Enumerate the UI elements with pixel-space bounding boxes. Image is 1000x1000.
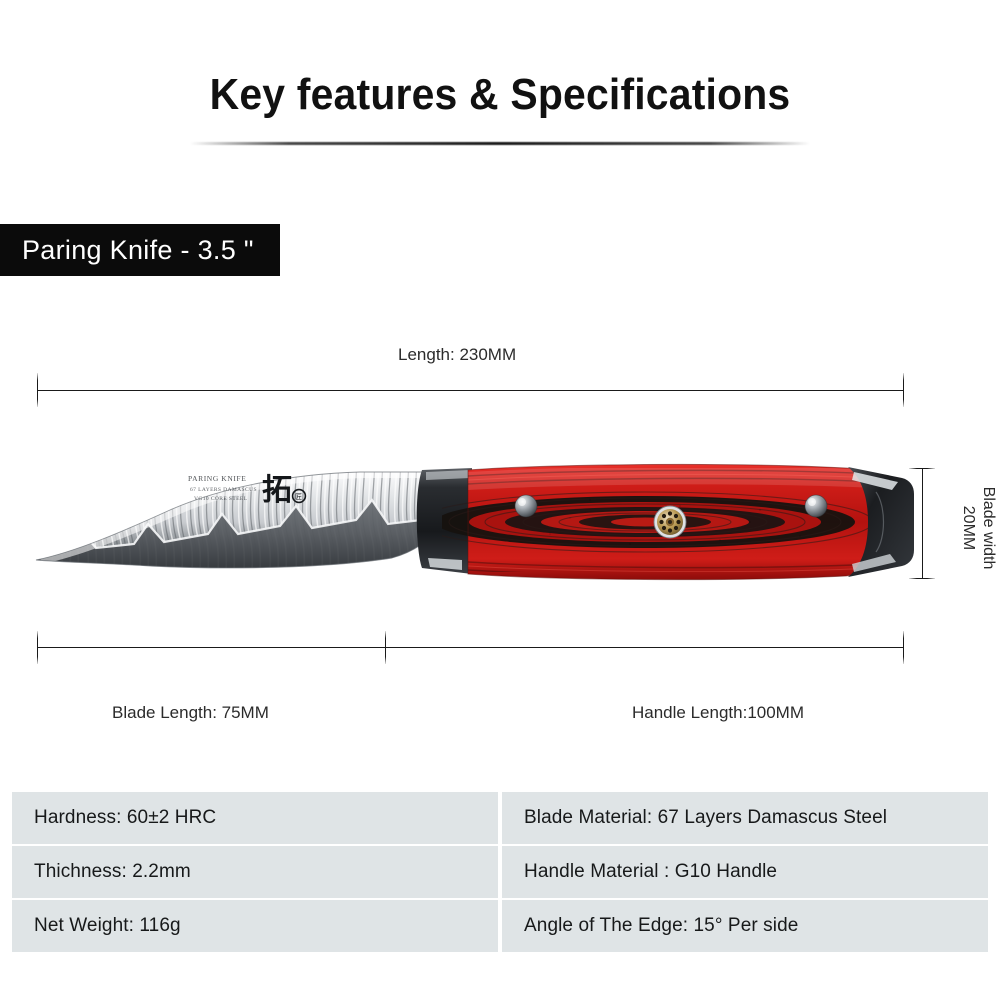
spec-cell-thickness: Thichness: 2.2mm [12, 846, 498, 898]
blade-width-dimension-line [922, 468, 923, 579]
product-name-badge: Paring Knife - 3.5 " [0, 224, 280, 276]
blade-width-cap-top [909, 468, 935, 469]
title-underline-rule [190, 142, 810, 145]
svg-text:匠: 匠 [295, 493, 302, 501]
overall-length-cap-left [37, 373, 38, 407]
svg-text:拓: 拓 [262, 473, 292, 508]
blade-width-label-wrap: Blade width 20MM [947, 460, 1000, 590]
blade-length-label: Blade Length: 75MM [112, 703, 269, 723]
blade-etching: PARING KNIFE 67 LAYERS DAMASCUS VG10 COR… [188, 474, 257, 502]
blade-length-cap-left [37, 631, 38, 664]
spec-cell-hardness: Hardness: 60±2 HRC [12, 792, 498, 844]
knife-illustration: . PARING KNIFE 67 LAYERS DAMASCUS VG10 C… [30, 448, 920, 598]
handle-length-cap-right [903, 631, 904, 664]
spec-cell-handle-material: Handle Material : G10 Handle [502, 846, 988, 898]
blade-width-cap-bottom [909, 578, 935, 579]
blade-width-label: Blade width 20MM [958, 463, 998, 593]
handle-rivet-front [515, 495, 537, 517]
svg-text:67 LAYERS DAMASCUS: 67 LAYERS DAMASCUS [190, 487, 257, 493]
blade-handle-dimension-line [37, 647, 904, 648]
blade-width-label-line2: 20MM [958, 463, 978, 593]
svg-text:PARING KNIFE: PARING KNIFE [188, 474, 246, 483]
spec-cell-blade-material: Blade Material: 67 Layers Damascus Steel [502, 792, 988, 844]
handle-mosaic-pin [654, 506, 686, 538]
blade-width-label-line1: Blade width [980, 487, 997, 570]
handle-rivet-rear [805, 495, 827, 517]
knife-blade: . PARING KNIFE 67 LAYERS DAMASCUS VG10 C… [30, 448, 442, 598]
specifications-table: Hardness: 60±2 HRC Blade Material: 67 La… [12, 792, 988, 952]
spec-cell-edge-angle: Angle of The Edge: 15° Per side [502, 900, 988, 952]
svg-text:VG10 CORE STEEL: VG10 CORE STEEL [194, 496, 248, 502]
page-title: Key features & Specifications [35, 72, 965, 118]
infographic-page: Key features & Specifications Paring Kni… [0, 0, 1000, 1000]
spec-cell-net-weight: Net Weight: 116g [12, 900, 498, 952]
knife-handle [417, 464, 914, 579]
overall-length-cap-right [903, 373, 904, 407]
page-title-wrap: Key features & Specifications [0, 72, 1000, 118]
blade-handle-cap-middle [385, 631, 386, 664]
handle-length-label: Handle Length:100MM [632, 703, 804, 723]
overall-length-label: Length: 230MM [398, 345, 516, 365]
overall-length-dimension-line [37, 390, 904, 391]
